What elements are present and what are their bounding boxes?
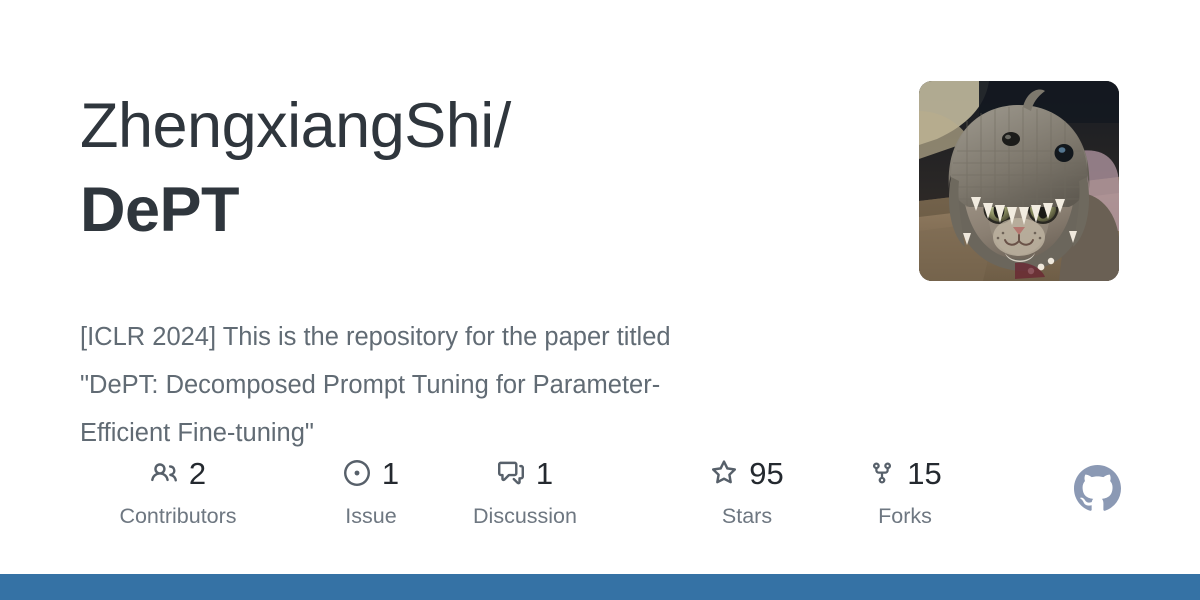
repo-name: DePT (80, 168, 900, 252)
stat-contributors-top: 2 (80, 455, 276, 491)
github-mark-icon (1074, 465, 1121, 512)
stat-discussions-label: Discussion (462, 504, 588, 528)
comment-discussion-icon (497, 459, 525, 487)
repo-description: [ICLR 2024] This is the repository for t… (80, 313, 880, 457)
stat-discussions[interactable]: 1 Discussion (462, 455, 588, 535)
stat-issues[interactable]: 1 Issue (308, 455, 434, 535)
language-color-bar (0, 574, 1200, 600)
stat-stars-label: Stars (684, 504, 810, 528)
repo-description-line: [ICLR 2024] This is the repository for t… (80, 313, 880, 361)
stat-forks-value: 15 (907, 458, 941, 489)
repository-social-preview-card: ZhengxiangShi/ DePT [ICLR 2024] This is … (0, 0, 1200, 600)
repo-stats: 2 Contributors 1 Issue (80, 455, 980, 535)
stat-contributors[interactable]: 2 Contributors (80, 455, 276, 535)
stat-forks-label: Forks (842, 504, 968, 528)
repo-description-line: "DePT: Decomposed Prompt Tuning for Para… (80, 361, 880, 409)
stat-issues-value: 1 (382, 458, 399, 489)
stat-stars[interactable]: 95 Stars (684, 455, 810, 535)
stat-discussions-top: 1 (462, 455, 588, 491)
issue-opened-icon (343, 459, 371, 487)
stat-stars-top: 95 (684, 455, 810, 491)
repo-owner: ZhengxiangShi/ (80, 84, 900, 168)
stat-stars-value: 95 (749, 458, 783, 489)
people-icon (150, 459, 178, 487)
stat-issues-label: Issue (308, 504, 434, 528)
repository-avatar (919, 81, 1119, 281)
repo-description-line: Efficient Fine-tuning" (80, 409, 880, 457)
stat-discussions-value: 1 (536, 458, 553, 489)
stat-issues-top: 1 (308, 455, 434, 491)
repo-forked-icon (868, 459, 896, 487)
stat-forks[interactable]: 15 Forks (842, 455, 968, 535)
stat-contributors-value: 2 (189, 458, 206, 489)
star-icon (710, 459, 738, 487)
stat-contributors-label: Contributors (80, 504, 276, 528)
page-title: ZhengxiangShi/ DePT (80, 84, 900, 252)
stat-forks-top: 15 (842, 455, 968, 491)
